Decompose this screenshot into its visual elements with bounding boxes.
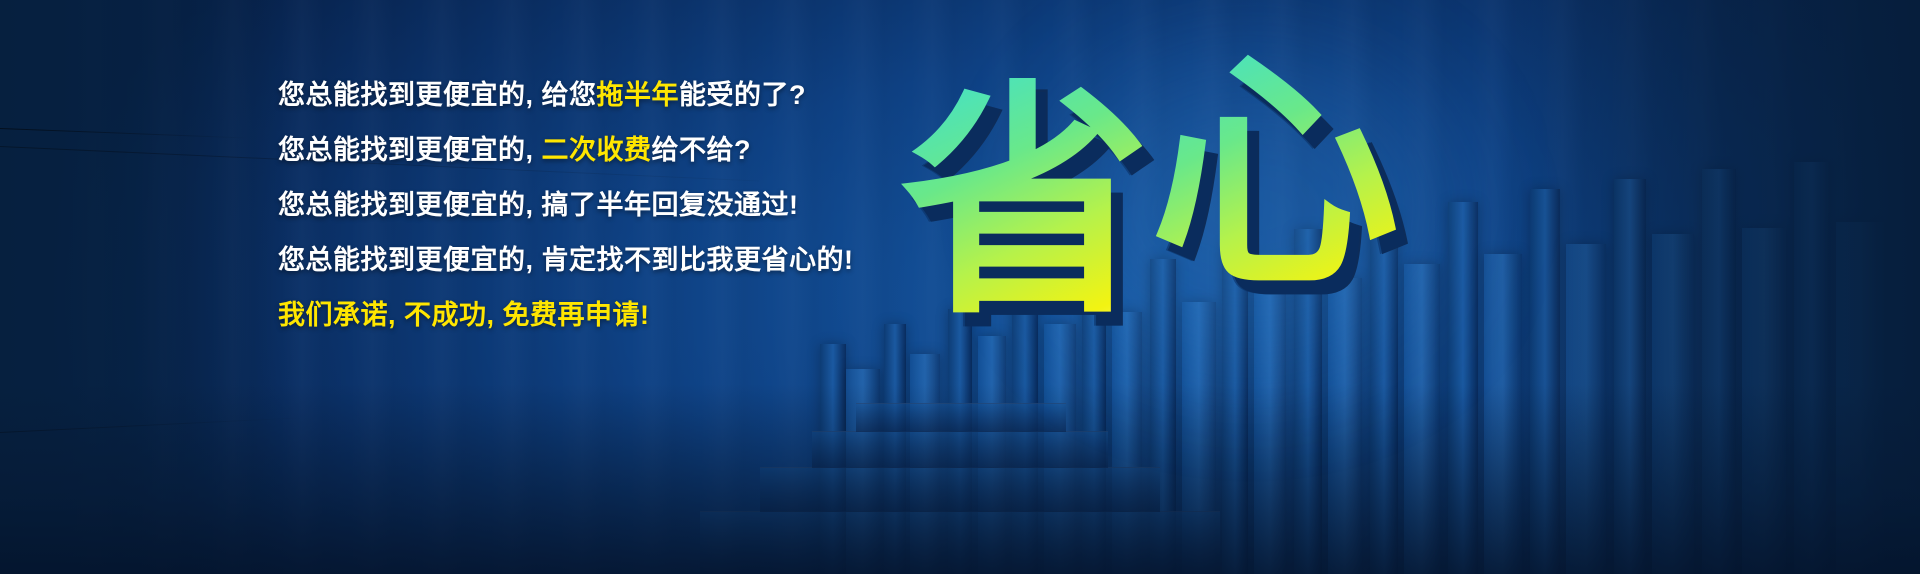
headline-line-2-highlight: 二次收费: [542, 135, 652, 165]
headline-line-2: 您总能找到更便宜的, 二次收费给不给?: [278, 137, 918, 164]
headline-line-2-prefix: 您总能找到更便宜的,: [278, 135, 542, 165]
headline-line-1-highlight: 拖半年: [597, 80, 680, 110]
headline-line-1-suffix: 能受的了?: [679, 80, 806, 110]
headline-line-3-prefix: 您总能找到更便宜的, 搞了半年回复没通过!: [278, 190, 799, 220]
headline-line-1-prefix: 您总能找到更便宜的, 给您: [278, 80, 597, 110]
headline-line-4-prefix: 您总能找到更便宜的, 肯定找不到比我更省心的!: [278, 245, 854, 275]
headline-line-3: 您总能找到更便宜的, 搞了半年回复没通过!: [278, 192, 918, 219]
artwork-shengxin: 省 心 省 心: [900, 40, 1420, 440]
promo-banner: 您总能找到更便宜的, 给您拖半年能受的了? 您总能找到更便宜的, 二次收费给不给…: [0, 0, 1920, 574]
headline-line-4: 您总能找到更便宜的, 肯定找不到比我更省心的!: [278, 247, 918, 274]
headline-line-2-suffix: 给不给?: [652, 135, 752, 165]
headline-copy-block: 您总能找到更便宜的, 给您拖半年能受的了? 您总能找到更便宜的, 二次收费给不给…: [278, 82, 918, 329]
artwork-char-sheng: 省: [900, 78, 1150, 328]
artwork-char-xin: 心: [1150, 50, 1400, 300]
promise-line: 我们承诺, 不成功, 免费再申请!: [278, 302, 918, 329]
headline-line-1: 您总能找到更便宜的, 给您拖半年能受的了?: [278, 82, 918, 109]
